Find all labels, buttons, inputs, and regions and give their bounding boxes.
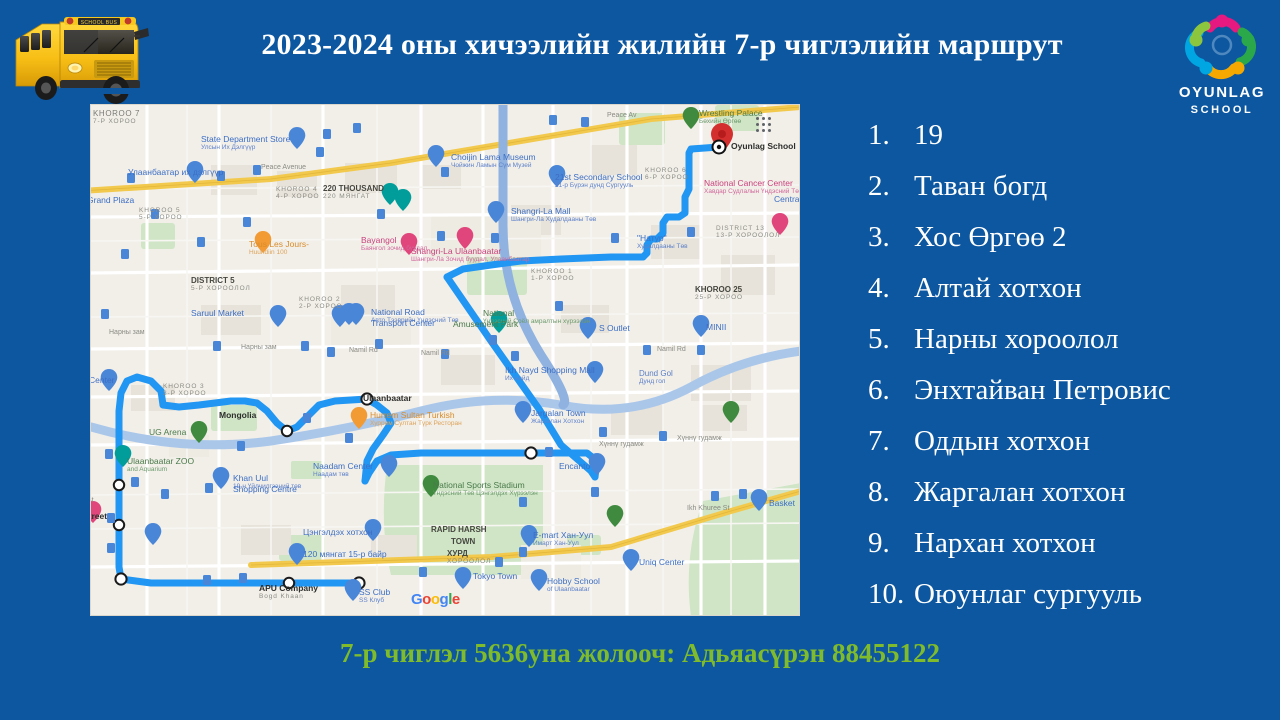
map-label-text: Namil Rd <box>657 346 686 353</box>
svg-text:SCHOOL BUS: SCHOOL BUS <box>81 20 118 26</box>
map-label-text: MINII <box>706 322 726 332</box>
google-logo: Google <box>411 591 460 608</box>
stop-item: 2.Таван богд <box>868 161 1278 212</box>
map-label-text: St <box>90 497 94 504</box>
driver-info: 7-р чиглэл 5636уна жолооч: Адьяасүрэн 88… <box>0 638 1280 669</box>
map-label: S Outlet <box>599 323 630 333</box>
map-label: KHOROO 33-Р ХОРОО <box>163 383 207 397</box>
map-label-text: Encanto <box>559 461 590 471</box>
map-label-text: 120 мянгат 15-р байр <box>303 549 387 559</box>
map-label-subtext: Имарт Хан-Уул <box>533 540 593 547</box>
stop-name: Хос Өргөө 2 <box>914 212 1067 263</box>
map-label-text: "Натур" <box>637 233 688 243</box>
map-label: Shangri-La MallШангри-Ла Худалдааны Төв <box>511 206 596 223</box>
google-letter: g <box>440 591 449 608</box>
map-label: Center <box>90 375 115 385</box>
stop-item: 1.19 <box>868 110 1278 161</box>
map-label-text: Улаанбаатар их дэлгүүр <box>128 167 223 177</box>
map-label-text: Jargalan Town <box>531 408 586 418</box>
map-label-text: 220 THOUSAND <box>323 184 384 193</box>
map-label-subtext: 6-Р ХОРОО <box>645 174 689 181</box>
map-label: National Sports StadiumҮндэсний Төв Цэнг… <box>433 480 538 497</box>
map-label-text: DISTRICT 13 <box>716 225 780 232</box>
map-label: KHOROO 2525-Р ХОРОО <box>695 285 743 301</box>
map-label-text: Dund Gol <box>639 369 673 378</box>
stop-number: 4. <box>868 263 914 314</box>
map-label-text: KHOROO 4 <box>276 186 320 193</box>
map-label-text: TOWN <box>451 537 475 546</box>
map-label: Dund GolДунд гол <box>639 369 673 385</box>
map-label: Hurrem Sultan TurkishХуррем Султан Түрк … <box>370 410 462 427</box>
map-label-subtext: of Ulaanbaatar <box>547 586 600 593</box>
stop-item: 5.Нарны хороолол <box>868 314 1278 365</box>
map-label-text: KHOROO 7 <box>93 109 140 118</box>
map-label: TOWN <box>451 537 475 546</box>
map-label-text: National Sports Stadium <box>433 480 538 490</box>
map-label-subtext: 7-Р ХОРОО <box>93 118 140 125</box>
stop-item: 8.Жаргалан хотхон <box>868 467 1278 518</box>
map-label: Naadam CenterНаадам төв <box>313 461 373 478</box>
map-label: Jargalan TownЖаргалан Хотхон <box>531 408 586 425</box>
map-label-text: Street <box>90 511 107 521</box>
stop-name: Алтай хотхон <box>914 263 1082 314</box>
map-label: State Department StoreУлсын Их Дэлгүүр <box>201 134 290 151</box>
map-label: UG Arena <box>149 427 186 437</box>
map-label-text: RAPID HARSH <box>431 525 487 534</box>
stop-number: 1. <box>868 110 914 161</box>
map-label-subtext: ХОРООЛОЛ <box>447 558 491 565</box>
stop-number: 2. <box>868 161 914 212</box>
map-label-subtext: 21-р Бүрэн дунд Сургууль <box>555 182 642 189</box>
map-label-text: Нарны зам <box>109 329 145 336</box>
stop-name: Таван богд <box>914 161 1047 212</box>
map-label-text: Ulaanbaatar <box>363 393 412 403</box>
map-label: 21st Secondary School21-р Бүрэн дунд Сур… <box>555 172 642 189</box>
map-label: KHOROO 11-Р ХОРОО <box>531 268 575 282</box>
map-label-subtext: Улсын Их Дэлгүүр <box>201 144 290 151</box>
map-label-text: Uniq Center <box>639 557 684 567</box>
map-label-subtext: Их найд <box>505 375 595 382</box>
map-label-subtext: Bogd Khaan <box>259 593 318 600</box>
stop-item: 4.Алтай хотхон <box>868 263 1278 314</box>
map-label-text: Цэнгэлдэх хотхон <box>303 527 373 537</box>
stop-number: 3. <box>868 212 914 263</box>
apps-grid-icon[interactable] <box>756 117 774 135</box>
map-label-subtext: Чойжин Ламын Сүм Музей <box>451 162 536 169</box>
map-label: "Натур"Худалдааны Төв <box>637 233 688 250</box>
map-label: KHOROO 22-Р ХОРОО <box>299 296 343 310</box>
map-label: Wrestling PalaceБөхийн Өргөө <box>699 108 763 125</box>
map-label-text: National Cancer Center <box>704 178 800 188</box>
map-label-text: Grand Plaza <box>90 195 134 205</box>
map-label: KHOROO 66-Р ХОРОО <box>645 167 689 181</box>
map-label-text: APU Company <box>259 583 318 593</box>
map-label-text: Wrestling Palace <box>699 108 763 118</box>
map-label-text: Ikh Khuree St <box>687 505 729 512</box>
map-label-text: Transport Center <box>371 318 435 328</box>
map-label-text: Tokyo Town <box>473 571 517 581</box>
map-label-text: UG Arena <box>149 427 186 437</box>
map-label: Ikh Nayd Shopping MallИх найд <box>505 365 595 382</box>
map-label: Нарны зам <box>241 344 277 351</box>
stop-number: 5. <box>868 314 914 365</box>
school-bus-icon: SCHOOL BUS <box>2 2 162 106</box>
map-label-text: KHOROO 2 <box>299 296 343 303</box>
map-label: Saruul Market <box>191 308 244 318</box>
map-label-subtext: Шангри-Ла Зочид буудал, Улаанбаатар <box>411 256 529 263</box>
map-label-text: Mongolia <box>219 410 256 420</box>
map-label-text: ХУРД <box>447 549 491 558</box>
map-label: Amusement Park <box>453 319 518 329</box>
map-label-text: National Road <box>371 307 459 317</box>
map-label: Transport Center <box>371 318 435 328</box>
map-label-text: KHOROO 25 <box>695 285 743 294</box>
map-label-text: Нарны зам <box>241 344 277 351</box>
map-label-text: S Outlet <box>599 323 630 333</box>
map-label-text: Hobby School <box>547 576 600 586</box>
google-letter: e <box>452 591 460 608</box>
map-label: APU CompanyBogd Khaan <box>259 583 318 600</box>
map-label-text: DISTRICT 5 <box>191 276 251 285</box>
map-label-subtext: and Aquarium <box>127 466 194 473</box>
map-label-text: Peace Avenue <box>261 164 306 171</box>
stop-name: Нарны хороолол <box>914 314 1119 365</box>
map-label-subtext: 5-Р ХОРООЛОЛ <box>191 285 251 292</box>
map-label: Ulaanbaatar ZOOand Aquarium <box>127 456 194 473</box>
map-label-text: Naadam Center <box>313 461 373 471</box>
map-label-text: Bayangol <box>361 235 427 245</box>
map-label: Tokyo Town <box>473 571 517 581</box>
map-label-text: Central <box>774 194 800 204</box>
map-label: National Cancer CenterХавдар Судлалын Үн… <box>704 178 800 195</box>
map-label-text: Namil Rd <box>349 347 378 354</box>
map-label: Shangri-La UlaanbaatarШангри-Ла Зочид бу… <box>411 246 529 263</box>
map-label-subtext: Худалдааны Төв <box>637 243 688 250</box>
map-label: Uniq Center <box>639 557 684 567</box>
stop-number: 8. <box>868 467 914 518</box>
map-label: Hobby Schoolof Ulaanbaatar <box>547 576 600 593</box>
map-label-text: Хүннү гудамж <box>677 435 722 442</box>
map-label: Namil Rd <box>657 346 686 353</box>
map-label-subtext: 5-Р ХОРОО <box>139 214 183 221</box>
map-label-text: Хүннү гудамж <box>599 441 644 448</box>
stop-item: 3.Хос Өргөө 2 <box>868 212 1278 263</box>
map-label: Хүннү гудамж <box>677 435 722 442</box>
map-label-subtext: 2-Р ХОРОО <box>299 303 343 310</box>
map-label: Encanto <box>559 461 590 471</box>
map-label-text: KHOROO 6 <box>645 167 689 174</box>
oyunlag-people-circle-icon <box>1170 6 1274 82</box>
map-label: Цэнгэлдэх хотхон <box>303 527 373 537</box>
stop-item: 9.Нархан хотхон <box>868 518 1278 569</box>
map-label-subtext: 220 МЯНГАТ <box>323 193 384 200</box>
map-label-text: Tous Les Jours- <box>249 239 309 249</box>
map-label-text: Saruul Market <box>191 308 244 318</box>
map-label-text: Amusement Park <box>453 319 518 329</box>
stop-number: 9. <box>868 518 914 569</box>
map-label: Ulaanbaatar <box>363 393 412 403</box>
route-map[interactable]: Oyunlag School <box>90 104 800 616</box>
map-label: Street <box>90 511 107 521</box>
map-label: Basket <box>769 498 795 508</box>
map-label-subtext: 3-Р ХОРОО <box>163 390 207 397</box>
stop-name: Нархан хотхон <box>914 518 1096 569</box>
map-label-text: KHOROO 3 <box>163 383 207 390</box>
stop-item: 6.Энхтайван Петровис <box>868 365 1278 416</box>
map-label-text: Hurrem Sultan Turkish <box>370 410 462 420</box>
map-label-subtext: Бөхийн Өргөө <box>699 118 763 125</box>
map-label: St <box>90 497 94 504</box>
map-label-text: Namil Rd <box>421 350 450 357</box>
map-label: Namil Rd <box>349 347 378 354</box>
stop-name: Энхтайван Петровис <box>914 365 1171 416</box>
map-label-text: Ikh Nayd Shopping Mall <box>505 365 595 375</box>
map-label: MINII <box>706 322 726 332</box>
map-label: Ikh Khuree St <box>687 505 729 512</box>
stop-name: Жаргалан хотхон <box>914 467 1125 518</box>
map-label-text: National <box>483 308 590 318</box>
google-letter: o <box>431 591 440 608</box>
map-label-subtext: 13-Р ХОРООЛОЛ <box>716 232 780 239</box>
map-label: Shopping Centre <box>233 484 297 494</box>
map-label-text: Basket <box>769 498 795 508</box>
map-label-subtext: Дунд гол <box>639 378 673 385</box>
stop-number: 10. <box>868 569 914 620</box>
map-label-text: Shangri-La Ulaanbaatar <box>411 246 529 256</box>
map-label-subtext: 1-Р ХОРОО <box>531 275 575 282</box>
map-label: RAPID HARSH <box>431 525 487 534</box>
map-label: Нарны зам <box>109 329 145 336</box>
stop-name: Оддын хотхон <box>914 416 1090 467</box>
stop-name: 19 <box>914 110 943 161</box>
map-label: KHOROO 77-Р ХОРОО <box>93 109 140 125</box>
map-label-subtext: Үндэсний Төв Цэнгэлдэх Хүрээлэн <box>433 490 538 497</box>
map-label: KHOROO 55-Р ХОРОО <box>139 207 183 221</box>
map-label-subtext: 4-Р ХОРОО <box>276 193 320 200</box>
map-label: 120 мянгат 15-р байр <box>303 549 387 559</box>
google-letter: o <box>422 591 431 608</box>
stop-item: 7.Оддын хотхон <box>868 416 1278 467</box>
map-label: DISTRICT 1313-Р ХОРООЛОЛ <box>716 225 780 239</box>
map-label: Хүннү гудамж <box>599 441 644 448</box>
map-label: KHOROO 44-Р ХОРОО <box>276 186 320 200</box>
map-label: Mongolia <box>219 410 256 420</box>
stop-number: 7. <box>868 416 914 467</box>
stop-number: 6. <box>868 365 914 416</box>
map-label-subtext: Huuhdiin 100 <box>249 249 309 256</box>
map-label-subtext: Жаргалан Хотхон <box>531 418 586 425</box>
map-label: Peace Avenue <box>261 164 306 171</box>
map-label-text: Ulaanbaatar ZOO <box>127 456 194 466</box>
map-label: Peace Av <box>607 112 636 119</box>
map-label-text: 21st Secondary School <box>555 172 642 182</box>
stop-name: Оюунлаг сургууль <box>914 569 1142 620</box>
google-letter: G <box>411 591 422 608</box>
logo-name: OYUNLAG <box>1170 84 1274 101</box>
map-label: Central <box>774 194 800 204</box>
map-label-subtext: Наадам төв <box>313 471 373 478</box>
map-label-text: Peace Av <box>607 112 636 119</box>
map-label: DISTRICT 55-Р ХОРООЛОЛ <box>191 276 251 292</box>
map-label-text: E-mart Хан-Уул <box>533 530 593 540</box>
map-label: SS ClubSS Клуб <box>359 587 390 604</box>
header-banner: SCHOOL BUS <box>0 0 1280 108</box>
map-label: Choijin Lama MuseumЧойжин Ламын Сүм Музе… <box>451 152 536 169</box>
map-label: Tous Les Jours-Huuhdiin 100 <box>249 239 309 256</box>
map-label-text: KHOROO 1 <box>531 268 575 275</box>
map-label-subtext: 25-Р ХОРОО <box>695 294 743 301</box>
map-label-subtext: SS Клуб <box>359 597 390 604</box>
map-label: E-mart Хан-УулИмарт Хан-Уул <box>533 530 593 547</box>
map-label-text: Choijin Lama Museum <box>451 152 536 162</box>
map-label: 220 THOUSAND220 МЯНГАТ <box>323 184 384 200</box>
route-stop-list: 1.192.Таван богд3.Хос Өргөө 24.Алтай хот… <box>868 110 1278 620</box>
map-label-text: SS Club <box>359 587 390 597</box>
page-title: 2023-2024 оны хичээлийн жилийн 7-р чиглэ… <box>162 28 1162 62</box>
map-label-text: State Department Store <box>201 134 290 144</box>
map-label: Улаанбаатар их дэлгүүр <box>128 167 223 177</box>
map-label-text: Shangri-La Mall <box>511 206 596 216</box>
map-label-subtext: Шангри-Ла Худалдааны Төв <box>511 216 596 223</box>
map-label: ХУРДХОРООЛОЛ <box>447 549 491 565</box>
map-label-text: Shopping Centre <box>233 484 297 494</box>
map-label: Namil Rd <box>421 350 450 357</box>
map-label-text: Khan Uul <box>233 473 301 483</box>
stop-item: 10.Оюунлаг сургууль <box>868 569 1278 620</box>
map-label: Grand Plaza <box>90 195 134 205</box>
map-label-subtext: Хуррем Султан Түрк Ресторан <box>370 420 462 427</box>
map-label-text: KHOROO 5 <box>139 207 183 214</box>
map-label-text: Center <box>90 375 115 385</box>
